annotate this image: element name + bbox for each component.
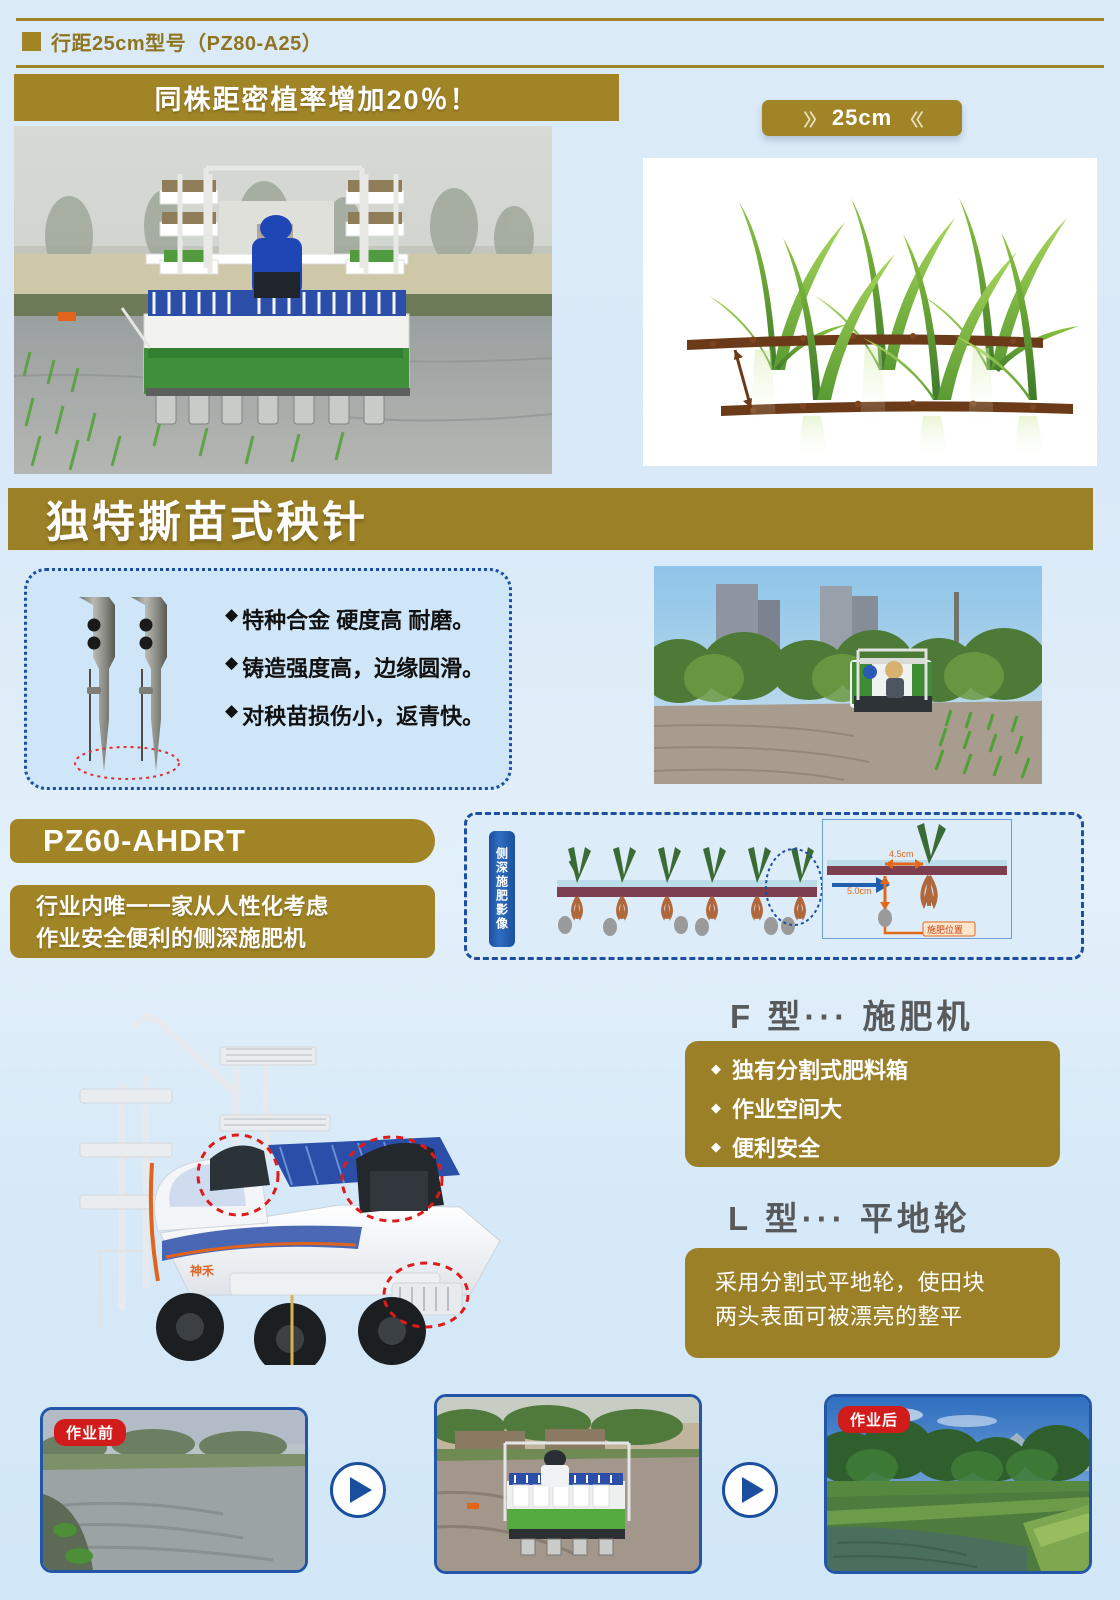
feature-l-line1: 采用分割式平地轮，使田块	[715, 1266, 1060, 1300]
row-spacing-pill: 〉〉 25cm 〈〈	[762, 100, 962, 136]
list-item: ◆ 铸造强度高，边缘圆滑。	[225, 651, 484, 683]
model-claim-line1: 行业内唯一一家从人性化考虑	[36, 891, 435, 923]
list-item: ◆ 独有分割式肥料箱	[711, 1053, 1060, 1085]
list-item: ◆ 特种合金 硬度高 耐磨。	[225, 603, 484, 635]
header-row: 行距25cm型号（PZ80-A25）	[16, 21, 1104, 61]
needle-section-title-banner: 独特撕苗式秧针	[8, 488, 1093, 550]
play-triangle-icon	[742, 1477, 764, 1503]
photo-during-operation	[434, 1394, 702, 1574]
needle-bullet-text: 铸造强度高，边缘圆滑。	[242, 651, 484, 683]
feature-l-title: L 型··· 平地轮	[728, 1192, 971, 1240]
photo-field-operation	[654, 566, 1042, 784]
rice-spacing-diagram: 行距25cm	[643, 158, 1097, 466]
play-button-1[interactable]	[330, 1462, 386, 1518]
row-spacing-value: 25cm	[832, 105, 892, 131]
needle-bullet-text: 对秧苗损伤小，返青快。	[242, 699, 484, 731]
photo-before-operation: 作业前	[40, 1407, 308, 1573]
needle-bullet-list: ◆ 特种合金 硬度高 耐磨。 ◆ 铸造强度高，边缘圆滑。 ◆ 对秧苗损伤小，返青…	[225, 603, 484, 747]
chevron-left-icon: 〈〈	[901, 106, 921, 131]
svg-text:4.5cm: 4.5cm	[889, 849, 914, 859]
poster-page: 行距25cm型号（PZ80-A25） 同株距密植率增加20％！	[0, 0, 1120, 1600]
chevron-right-icon: 〉〉	[803, 106, 823, 131]
list-item: ◆ 便利安全	[711, 1131, 1060, 1163]
feature-l-line2: 两头表面可被漂亮的整平	[715, 1300, 1060, 1334]
needle-bullet-text: 特种合金 硬度高 耐磨。	[242, 603, 474, 635]
model-tag-label: PZ60-AHDRT	[10, 823, 246, 859]
feature-f-bullet-text: 独有分割式肥料箱	[732, 1053, 908, 1085]
after-tag: 作业后	[838, 1406, 910, 1433]
play-triangle-icon	[350, 1477, 372, 1503]
feature-f-list: ◆ 独有分割式肥料箱 ◆ 作业空间大 ◆ 便利安全	[711, 1053, 1060, 1163]
needle-section-title: 独特撕苗式秧针	[8, 488, 368, 550]
page-title: 行距25cm型号（PZ80-A25）	[51, 27, 322, 56]
model-claim-box: 行业内唯一一家从人性化考虑 作业安全便利的侧深施肥机	[10, 885, 435, 958]
needle-feature-card: ◆ 特种合金 硬度高 耐磨。 ◆ 铸造强度高，边缘圆滑。 ◆ 对秧苗损伤小，返青…	[24, 568, 512, 790]
feature-f-title: F 型··· 施肥机	[730, 990, 973, 1038]
density-banner: 同株距密植率增加20％！	[14, 74, 619, 121]
diamond-bullet-icon: ◆	[711, 1139, 721, 1155]
needle-photo	[63, 591, 193, 771]
diamond-bullet-icon: ◆	[711, 1100, 721, 1116]
feature-f-bullet-text: 便利安全	[732, 1131, 820, 1163]
header-rule-bottom	[16, 65, 1104, 68]
feature-f-box: ◆ 独有分割式肥料箱 ◆ 作业空间大 ◆ 便利安全	[685, 1041, 1060, 1167]
feature-l-box: 采用分割式平地轮，使田块 两头表面可被漂亮的整平	[685, 1248, 1060, 1358]
list-item: ◆ 对秧苗损伤小，返青快。	[225, 699, 484, 731]
model-claim-line2: 作业安全便利的侧深施肥机	[36, 923, 435, 955]
photo-transplanter-rear	[14, 126, 552, 474]
diamond-bullet-icon: ◆	[225, 651, 238, 676]
square-marker-icon	[22, 32, 41, 51]
feature-f-bullet-text: 作业空间大	[732, 1092, 842, 1124]
svg-text:5.0cm: 5.0cm	[847, 886, 872, 896]
photo-after-operation: 作业后	[824, 1394, 1092, 1574]
play-button-2[interactable]	[722, 1462, 778, 1518]
page-header: 行距25cm型号（PZ80-A25）	[16, 18, 1104, 68]
density-banner-label: 同株距密植率增加20％！	[154, 78, 478, 117]
diamond-bullet-icon: ◆	[225, 699, 238, 724]
fertilizer-diagram-panel: 侧深施肥影像	[464, 812, 1084, 960]
diamond-bullet-icon: ◆	[225, 603, 238, 628]
model-tag: PZ60-AHDRT	[10, 819, 435, 863]
fertilizer-panel-vertical-label: 侧深施肥影像	[489, 831, 515, 947]
before-tag: 作业前	[54, 1419, 126, 1446]
svg-text:施肥位置: 施肥位置	[927, 924, 963, 936]
diamond-bullet-icon: ◆	[711, 1061, 721, 1077]
list-item: ◆ 作业空间大	[711, 1092, 1060, 1124]
fertilizer-detail-box: 4.5cm 5.0cm 施肥位置	[822, 819, 1012, 939]
